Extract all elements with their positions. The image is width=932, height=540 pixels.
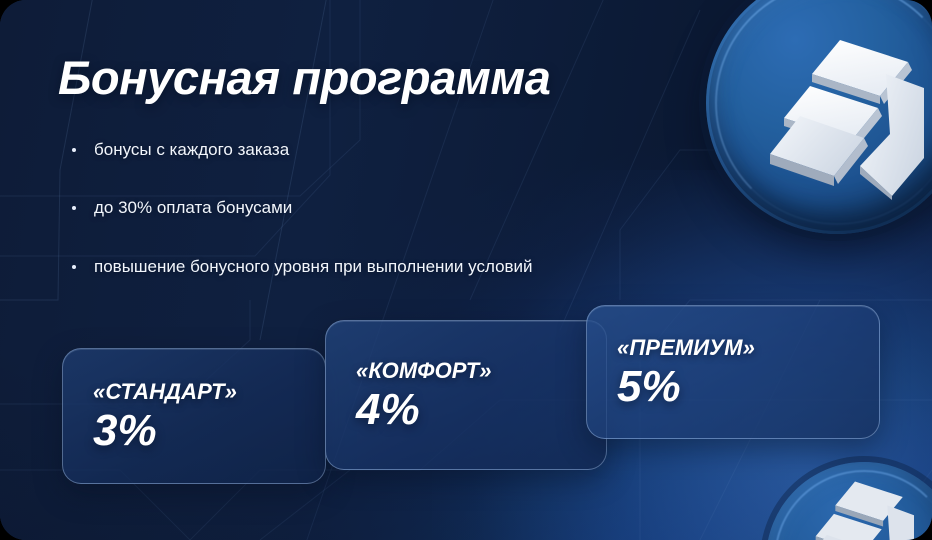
tier-value: 5% (617, 363, 853, 411)
tier-card-content: «ПРЕМИУМ» 5% (587, 306, 879, 438)
tier-name: «СТАНДАРТ» (93, 379, 299, 405)
tier-card-premium[interactable]: «ПРЕМИУМ» 5% (586, 305, 880, 439)
benefit-text: повышение бонусного уровня при выполнени… (94, 257, 533, 276)
tier-name: «ПРЕМИУМ» (617, 335, 853, 361)
benefits-list: бонусы с каждого заказа до 30% оплата бо… (70, 140, 770, 277)
tier-value: 3% (93, 407, 299, 455)
bullet-dot-icon (72, 265, 76, 269)
brand-logo-icon-secondary (796, 480, 914, 540)
tier-card-comfort[interactable]: «КОМФОРТ» 4% (325, 320, 607, 470)
benefit-text: бонусы с каждого заказа (94, 140, 289, 159)
tier-card-content: «КОМФОРТ» 4% (326, 321, 606, 469)
list-item-benefit-3: повышение бонусного уровня при выполнени… (70, 257, 770, 277)
tier-value: 4% (356, 386, 580, 434)
bonus-program-banner: Бонусная программа бонусы с каждого зака… (0, 0, 932, 540)
page-title: Бонусная программа (58, 54, 550, 102)
list-item-benefit-2: до 30% оплата бонусами (70, 198, 770, 218)
bullet-dot-icon (72, 148, 76, 152)
tier-card-content: «СТАНДАРТ» 3% (63, 349, 325, 483)
tier-name: «КОМФОРТ» (356, 358, 580, 384)
bullet-dot-icon (72, 206, 76, 210)
benefit-text: до 30% оплата бонусами (94, 198, 292, 217)
brand-logo-icon (756, 38, 924, 200)
tier-card-standard[interactable]: «СТАНДАРТ» 3% (62, 348, 326, 484)
list-item-benefit-1: бонусы с каждого заказа (70, 140, 770, 160)
